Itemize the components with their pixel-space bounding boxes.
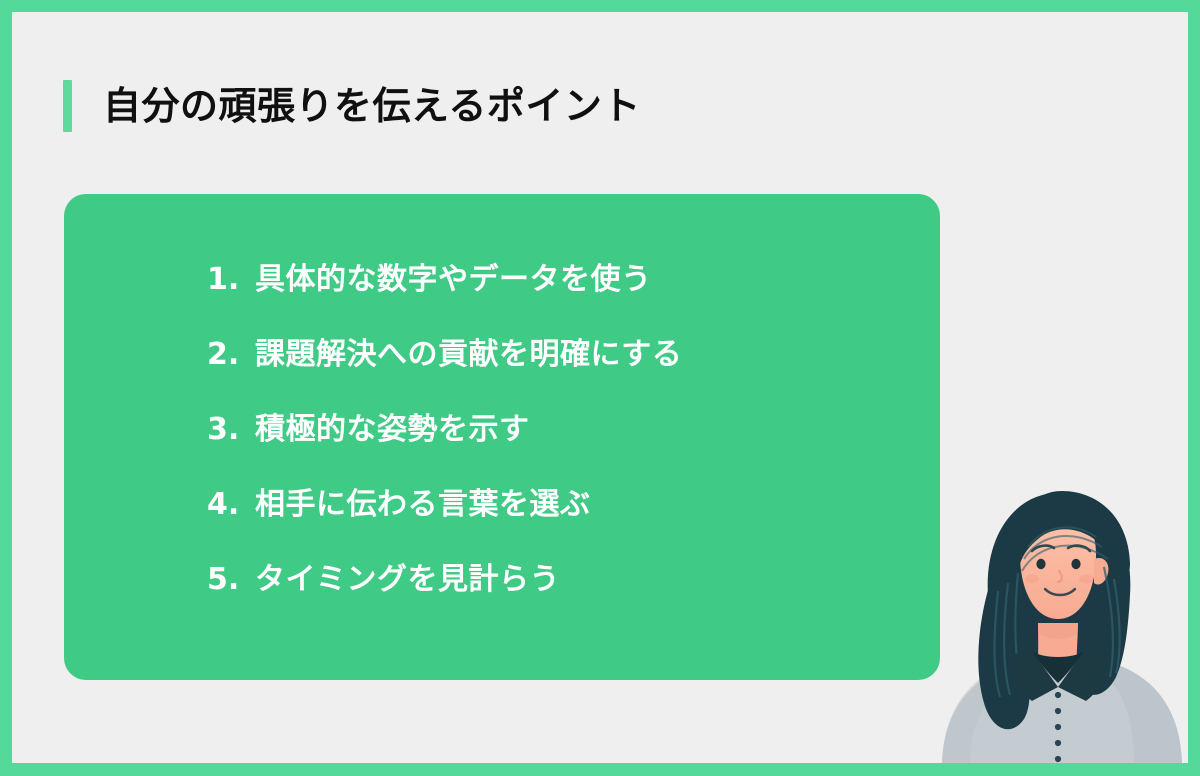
list-item-label: 相手に伝わる言葉を選ぶ (255, 479, 591, 523)
slide-canvas: 自分の頑張りを伝えるポイント 1. 具体的な数字やデータを使う 2. 課題解決へ… (12, 12, 1188, 763)
points-card: 1. 具体的な数字やデータを使う 2. 課題解決への貢献を明確にする 3. 積極… (64, 194, 940, 680)
list-item-number: 5. (207, 562, 255, 597)
eye-left (1036, 559, 1045, 569)
title-label: 自分の頑張りを伝えるポイント (103, 87, 641, 125)
points-list: 1. 具体的な数字やデータを使う 2. 課題解決への貢献を明確にする 3. 積極… (207, 254, 682, 629)
list-item-label: 具体的な数字やデータを使う (255, 254, 652, 298)
cheek-right (1079, 575, 1093, 584)
slide-root: 自分の頑張りを伝えるポイント 1. 具体的な数字やデータを使う 2. 課題解決へ… (0, 0, 1200, 776)
list-item-number: 4. (207, 487, 255, 522)
list-item-label: タイミングを見計らう (255, 554, 560, 598)
list-item-number: 3. (207, 412, 255, 447)
woman-portrait-illustration (928, 463, 1188, 763)
list-item: 3. 積極的な姿勢を示す (207, 404, 682, 479)
list-item: 2. 課題解決への貢献を明確にする (207, 329, 682, 404)
list-item-number: 1. (207, 262, 255, 297)
list-item-label: 積極的な姿勢を示す (255, 404, 530, 448)
title-accent-bar (63, 80, 72, 132)
list-item: 1. 具体的な数字やデータを使う (207, 254, 682, 329)
page-title: 自分の頑張りを伝えるポイント (63, 78, 641, 134)
list-item-label: 課題解決への貢献を明確にする (255, 329, 682, 373)
list-item: 5. タイミングを見計らう (207, 554, 682, 629)
eye-right (1071, 559, 1080, 569)
list-item: 4. 相手に伝わる言葉を選ぶ (207, 479, 682, 554)
list-item-number: 2. (207, 337, 255, 372)
cheek-left (1025, 575, 1039, 584)
